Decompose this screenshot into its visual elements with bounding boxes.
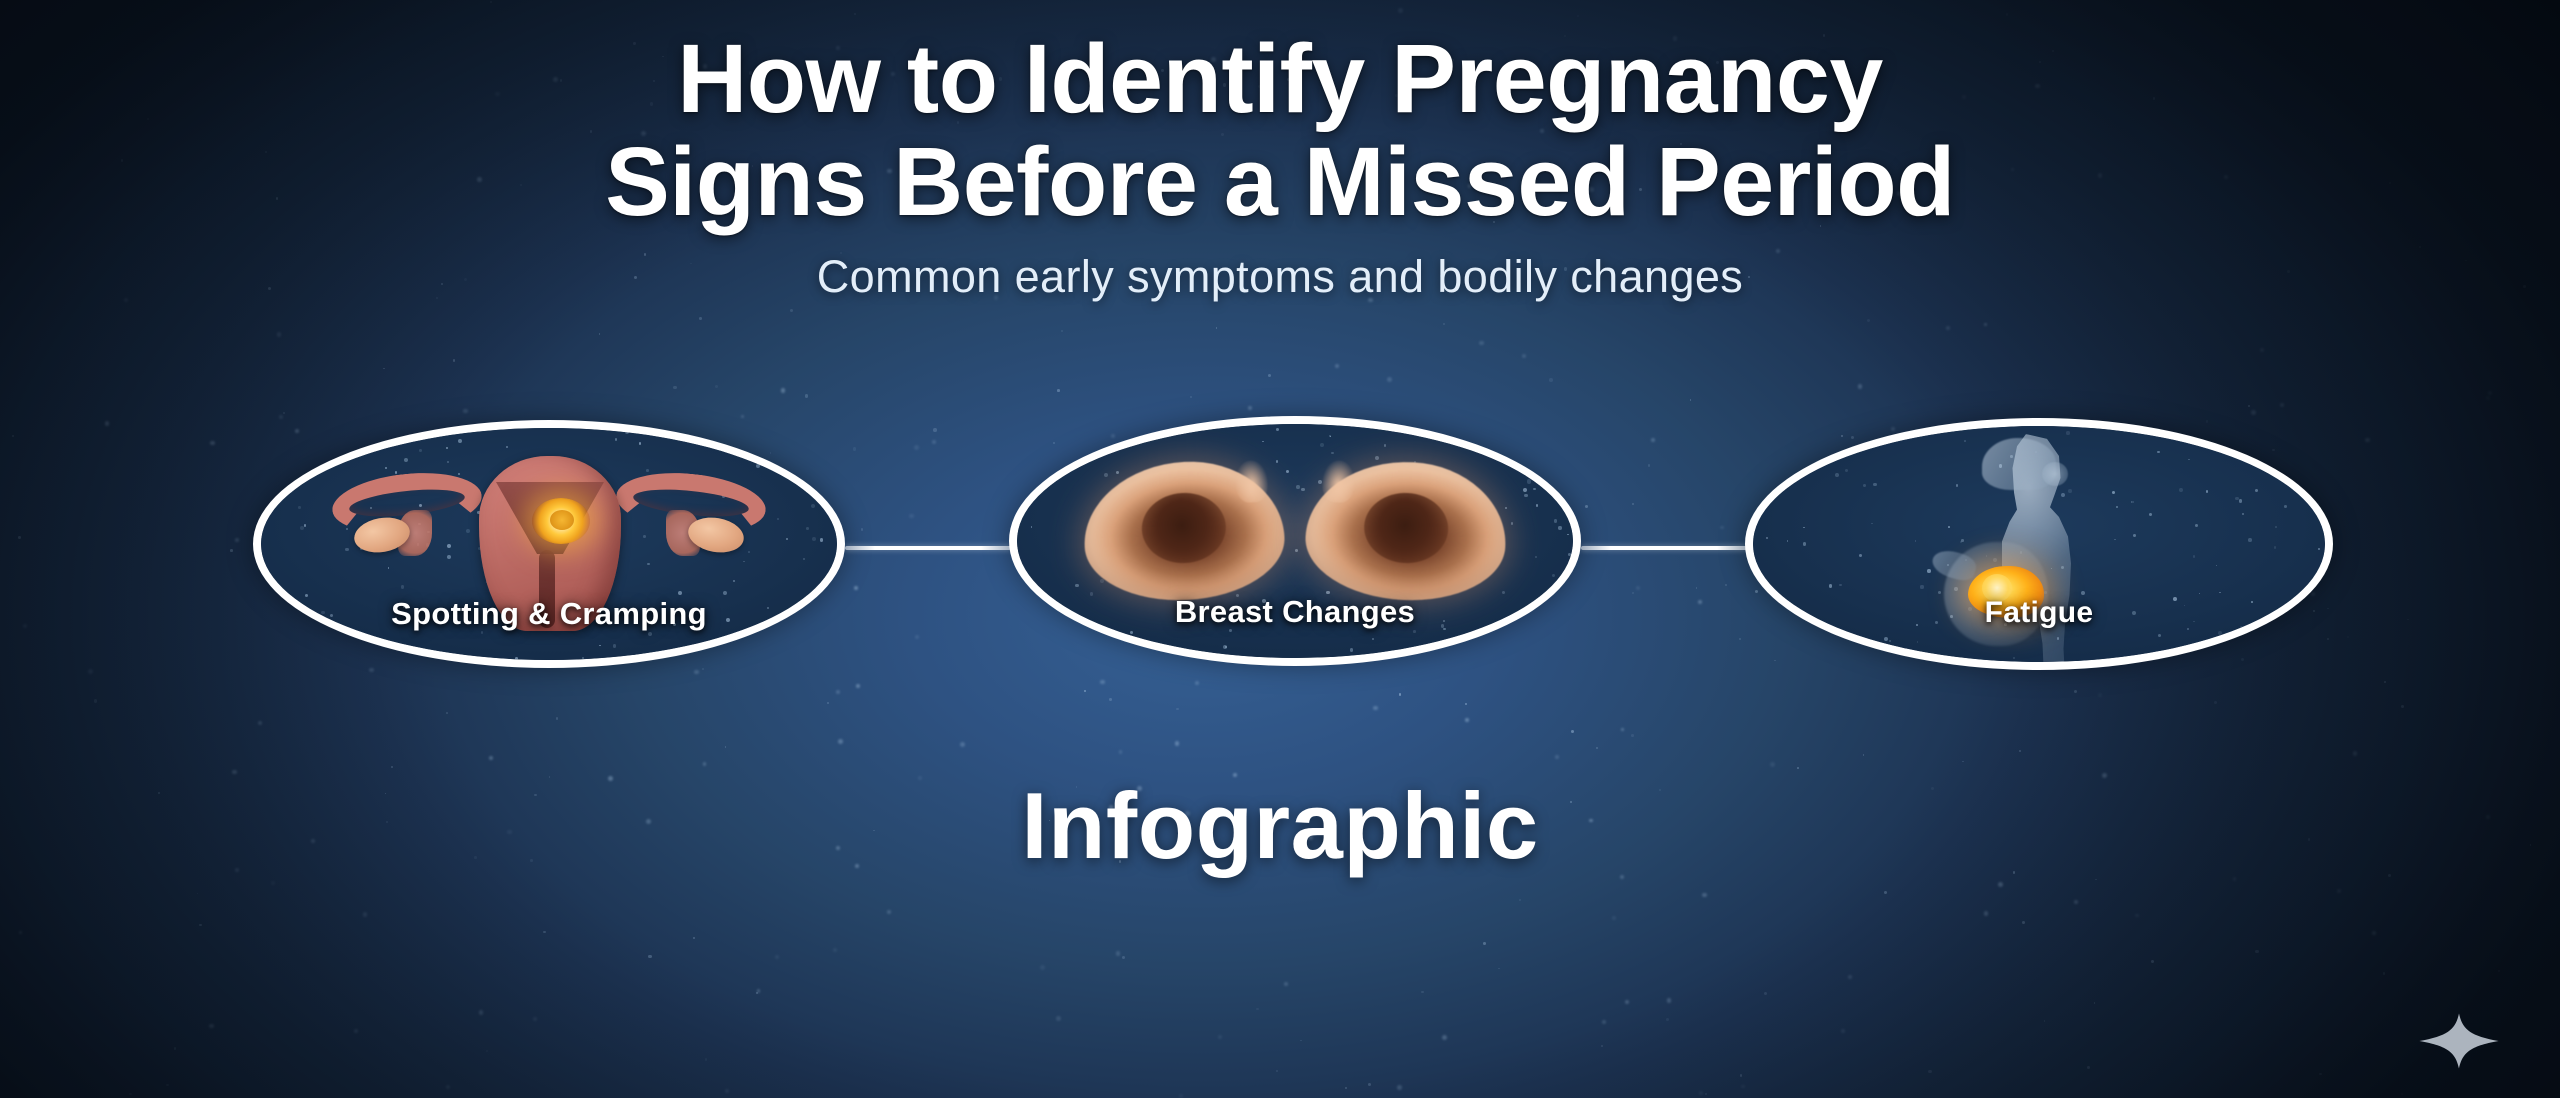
symptom-node-spotting-cramping[interactable]: Spotting & Cramping <box>253 420 845 668</box>
node-label-3: Fatigue <box>1753 596 2325 630</box>
node-label-1: Spotting & Cramping <box>261 596 837 632</box>
title-line-2: Signs Before a Missed Period <box>180 131 2380 234</box>
connector-line-2-3 <box>1581 546 1747 550</box>
infographic-canvas: How to Identify Pregnancy Signs Before a… <box>0 0 2560 1098</box>
header-block: How to Identify Pregnancy Signs Before a… <box>0 28 2560 303</box>
title-line-1: How to Identify Pregnancy <box>180 28 2380 131</box>
symptom-node-breast-changes[interactable]: Breast Changes <box>1009 416 1581 666</box>
footer-word: Infographic <box>0 772 2560 880</box>
node-background: Breast Changes <box>1017 424 1573 658</box>
page-title: How to Identify Pregnancy Signs Before a… <box>0 28 2560 234</box>
node-label-2: Breast Changes <box>1017 594 1573 630</box>
node-background: Fatigue <box>1753 426 2325 662</box>
node-background: Spotting & Cramping <box>261 428 837 660</box>
symptom-node-fatigue[interactable]: Fatigue <box>1745 418 2333 670</box>
sparkle-icon <box>2416 1010 2502 1072</box>
connector-line-1-2 <box>845 546 1011 550</box>
page-subtitle: Common early symptoms and bodily changes <box>0 251 2560 303</box>
